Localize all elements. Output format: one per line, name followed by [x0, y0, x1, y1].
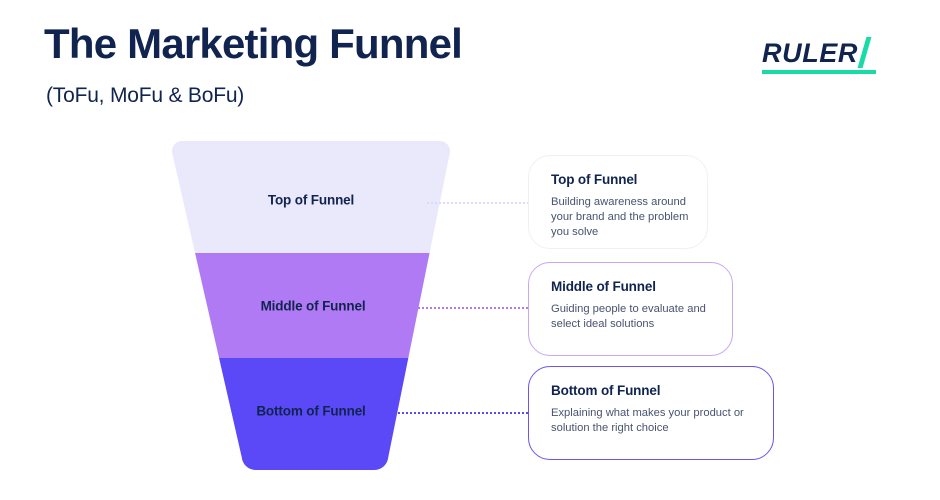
callout-body-tofu: Building awareness around your brand and…: [551, 195, 689, 239]
callout-title-mofu: Middle of Funnel: [551, 279, 714, 295]
callout-title-bofu: Bottom of Funnel: [551, 383, 755, 399]
callout-title-tofu: Top of Funnel: [551, 172, 689, 188]
infographic-canvas: The Marketing Funnel (ToFu, MoFu & BoFu)…: [0, 0, 940, 500]
callout-body-mofu: Guiding people to evaluate and select id…: [551, 302, 714, 332]
page-title: The Marketing Funnel: [44, 21, 462, 67]
brand-logo: RULER: [762, 38, 884, 80]
brand-logo-wordmark: RULER: [762, 38, 858, 69]
logo-underline-bar: [762, 70, 876, 74]
callout-card-tofu: Top of Funnel Building awareness around …: [528, 155, 708, 249]
callout-card-mofu: Middle of Funnel Guiding people to evalu…: [528, 262, 733, 356]
callout-card-bofu: Bottom of Funnel Explaining what makes y…: [528, 366, 774, 460]
connector-line-mofu: [418, 307, 528, 309]
funnel-stage-label-bofu: Bottom of Funnel: [256, 404, 365, 419]
page-subtitle: (ToFu, MoFu & BoFu): [46, 83, 244, 108]
callout-body-bofu: Explaining what makes your product or so…: [551, 406, 755, 436]
connector-line-tofu: [427, 202, 529, 204]
funnel-stage-label-tofu: Top of Funnel: [268, 193, 354, 208]
connector-line-bofu: [395, 412, 528, 414]
slash-icon: [858, 37, 872, 68]
funnel-stage-label-mofu: Middle of Funnel: [261, 299, 366, 314]
